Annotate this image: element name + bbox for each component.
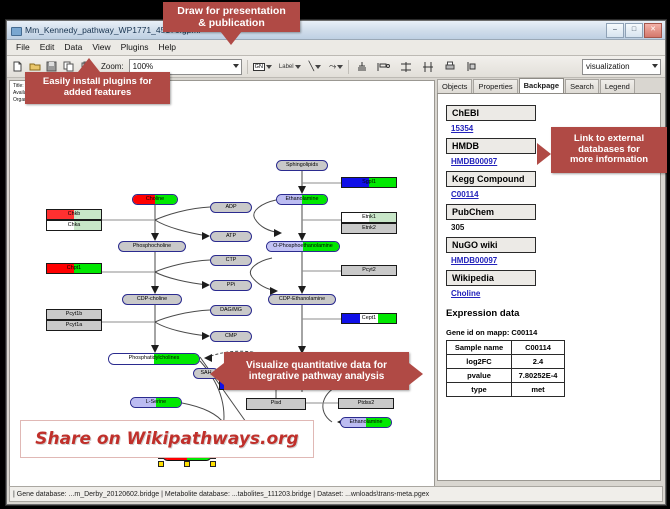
- expression-data-title: Expression data: [446, 308, 654, 319]
- callout-share: Share on Wikipathways.org: [20, 420, 314, 458]
- backpage-header-kegg: Kegg Compound: [446, 171, 536, 187]
- node-dag-mg[interactable]: DAG/MG: [210, 305, 252, 316]
- tab-objects[interactable]: Objects: [437, 79, 472, 93]
- node-l-serine-left[interactable]: L-Serine: [130, 397, 182, 408]
- tab-properties[interactable]: Properties: [473, 79, 517, 93]
- node-label: CTP: [226, 258, 237, 263]
- selection-handle[interactable]: [158, 461, 164, 467]
- node-label: CDP-choline: [137, 297, 167, 302]
- node-label: Chkb: [68, 212, 81, 217]
- node-label: Cept1: [362, 316, 376, 321]
- panel-tabs: Objects Properties Backpage Search Legen…: [437, 80, 661, 94]
- chevron-down-icon[interactable]: [337, 65, 343, 69]
- tab-legend[interactable]: Legend: [600, 79, 635, 93]
- status-bar: | Gene database: ...m_Derby_20120602.bri…: [9, 486, 663, 502]
- menu-item-view[interactable]: View: [87, 40, 115, 55]
- menu-item-data[interactable]: Data: [59, 40, 87, 55]
- tab-backpage[interactable]: Backpage: [519, 78, 564, 93]
- callout-plugins-arrow: [78, 58, 100, 72]
- table-cell-value: C00114: [512, 341, 565, 355]
- selection-handle[interactable]: [184, 461, 190, 467]
- chevron-down-icon[interactable]: [295, 65, 301, 69]
- backpage-header-nugo: NuGO wiki: [446, 237, 536, 253]
- node-ethanolamine-bottom[interactable]: Ethanolamine: [340, 417, 392, 428]
- callout-visualize-arrow-left: [210, 363, 224, 385]
- datanode-icon: GN: [253, 63, 265, 71]
- node-label: CMP: [225, 334, 237, 339]
- visualization-value: visualization: [586, 62, 630, 71]
- gene-cept1[interactable]: Cept1: [341, 313, 397, 324]
- gene-ptdss2[interactable]: Ptdss2: [338, 398, 394, 409]
- node-label: DAG/MG: [220, 308, 242, 313]
- interaction-icon: ⤳: [329, 61, 336, 72]
- node-cdp-choline[interactable]: CDP-choline: [122, 294, 182, 305]
- node-label: Ethanolamine: [350, 420, 383, 425]
- gene-pcyt1b[interactable]: Pcyt1b: [46, 309, 102, 320]
- callout-draw: Draw for presentation & publication: [163, 2, 300, 32]
- node-label: Choline: [146, 197, 164, 202]
- backpage-link-wikipedia[interactable]: Choline: [451, 289, 654, 298]
- node-label: Sgpl1: [362, 180, 376, 185]
- window-titlebar: Mm_Kennedy_pathway_WP1771_45176.gpml – □…: [7, 21, 665, 40]
- node-label: Pcyt1b: [66, 312, 82, 317]
- callout-link: Link to external databases for more info…: [551, 127, 667, 173]
- close-button[interactable]: ✕: [644, 23, 662, 38]
- print-icon[interactable]: [442, 59, 457, 74]
- menu-item-help[interactable]: Help: [154, 40, 181, 55]
- node-ppi[interactable]: PPi: [210, 280, 252, 291]
- zoom-label: Zoom:: [101, 62, 124, 71]
- selection-handle[interactable]: [210, 461, 216, 467]
- backpage-header-hmdb: HMDB: [446, 138, 536, 154]
- node-ctp[interactable]: CTP: [210, 255, 252, 266]
- new-file-icon[interactable]: [10, 59, 25, 74]
- node-label: Sphingolipids: [286, 163, 318, 168]
- node-phosphatidylcholines[interactable]: Phosphatidylcholines: [108, 353, 200, 365]
- node-label: Pisd: [271, 401, 282, 406]
- line-icon: ╲: [309, 61, 314, 72]
- maximize-button[interactable]: □: [625, 23, 643, 38]
- backpage-header-pubchem: PubChem: [446, 204, 536, 220]
- expression-table: Sample name C00114 log2FC 2.4 pvalue 7.8…: [446, 340, 565, 397]
- gene-etnk2[interactable]: Etnk2: [341, 223, 397, 234]
- table-cell-key: pvalue: [447, 369, 512, 383]
- line-tool[interactable]: ╲: [309, 61, 321, 72]
- status-text: | Gene database: ...m_Derby_20120602.bri…: [10, 491, 429, 498]
- table-row: type met: [447, 383, 565, 397]
- node-label: Phosphatidylcholines: [129, 356, 180, 361]
- node-sphingolipids[interactable]: Sphingolipids: [276, 160, 328, 171]
- callout-visualize-arrow-right: [409, 363, 423, 385]
- gene-etnk1[interactable]: Etnk1: [341, 212, 397, 223]
- node-ethanolamine-top[interactable]: Ethanolamine: [276, 194, 328, 205]
- distribute-horizontal-icon[interactable]: [420, 59, 435, 74]
- node-label: Ptdss2: [358, 401, 374, 406]
- gene-chka[interactable]: Chka: [46, 220, 102, 231]
- zoom-value: 100%: [133, 62, 153, 71]
- toolbar-separator: [247, 60, 248, 74]
- distribute-vertical-icon[interactable]: [398, 59, 413, 74]
- window-controls: – □ ✕: [606, 23, 662, 38]
- share-text: Share on Wikipathways.org: [35, 429, 298, 449]
- node-label: Chpt1: [67, 266, 81, 271]
- backpage-link-kegg[interactable]: C00114: [451, 190, 654, 199]
- chevron-down-icon: [652, 64, 658, 68]
- node-label: Phosphocholine: [133, 244, 171, 249]
- gene-chkb[interactable]: Chkb: [46, 209, 102, 220]
- minimize-button[interactable]: –: [606, 23, 624, 38]
- backpage-header-chebi: ChEBI: [446, 105, 536, 121]
- align-left-icon[interactable]: [376, 59, 391, 74]
- gene-pcyt1a[interactable]: Pcyt1a: [46, 320, 102, 331]
- node-label: Chka: [68, 223, 81, 228]
- gene-chpt1[interactable]: Chpt1: [46, 263, 102, 274]
- backpage-link-nugo[interactable]: HMDB00097: [451, 256, 654, 265]
- table-row: Sample name C00114: [447, 341, 565, 355]
- table-cell-value: met: [512, 383, 565, 397]
- node-phosphocholine[interactable]: Phosphocholine: [118, 241, 186, 252]
- label-tool-text: Label: [279, 64, 294, 70]
- table-row: log2FC 2.4: [447, 355, 565, 369]
- callout-plugins: Easily install plugins for added feature…: [25, 72, 170, 104]
- gene-pisd[interactable]: Pisd: [246, 398, 306, 410]
- menu-bar: File Edit Data View Plugins Help: [7, 40, 665, 56]
- screenshot-root: Mm_Kennedy_pathway_WP1771_45176.gpml – □…: [0, 0, 670, 509]
- node-label: Etnk2: [362, 226, 376, 231]
- gene-sgpl1[interactable]: Sgpl1: [341, 177, 397, 188]
- node-label: O-Phosphoethanolamine: [273, 244, 333, 249]
- backpage-header-wikipedia: Wikipedia: [446, 270, 536, 286]
- gene-id-on-mapp: Gene id on mapp: C00114: [446, 328, 654, 337]
- datanode-tool[interactable]: GN: [253, 63, 272, 71]
- node-label: Pcyt1a: [66, 323, 82, 328]
- third-left: [342, 314, 360, 323]
- node-label: Etnk1: [362, 215, 376, 220]
- node-o-phosphoethanolamine[interactable]: O-Phosphoethanolamine: [266, 241, 340, 252]
- table-cell-key: log2FC: [447, 355, 512, 369]
- app-icon: [10, 25, 21, 36]
- callout-link-arrow: [537, 143, 551, 165]
- interaction-tool[interactable]: ⤳: [329, 61, 343, 72]
- label-tool[interactable]: Label: [279, 64, 301, 70]
- node-cmp[interactable]: CMP: [210, 331, 252, 342]
- node-adp[interactable]: ADP: [210, 202, 252, 213]
- menu-item-edit[interactable]: Edit: [35, 40, 60, 55]
- gene-pcyt2[interactable]: Pcyt2: [341, 265, 397, 276]
- table-row: pvalue 7.80252E-4: [447, 369, 565, 383]
- chevron-down-icon[interactable]: [315, 65, 321, 69]
- order-icon[interactable]: [464, 59, 479, 74]
- node-label: ATP: [226, 234, 236, 239]
- node-label: Ethanolamine: [286, 197, 319, 202]
- chevron-down-icon: [233, 64, 239, 68]
- toolbar-separator: [348, 60, 349, 74]
- node-label: CDP-Ethanolamine: [279, 297, 325, 302]
- node-atp[interactable]: ATP: [210, 231, 252, 242]
- tab-search[interactable]: Search: [565, 79, 599, 93]
- callout-draw-arrow: [220, 31, 242, 45]
- menu-item-plugins[interactable]: Plugins: [116, 40, 154, 55]
- table-cell-key: type: [447, 383, 512, 397]
- node-label: Pcyt2: [362, 268, 375, 273]
- align-center-icon[interactable]: [354, 59, 369, 74]
- node-label: L-Serine: [146, 400, 166, 405]
- menu-item-file[interactable]: File: [11, 40, 35, 55]
- backpage-value-pubchem: 305: [451, 223, 654, 232]
- third-right: [378, 314, 396, 323]
- visualization-combo[interactable]: visualization: [582, 59, 661, 75]
- table-cell-key: Sample name: [447, 341, 512, 355]
- callout-visualize: Visualize quantitative data for integrat…: [224, 352, 409, 390]
- table-cell-value: 7.80252E-4: [512, 369, 565, 383]
- chevron-down-icon[interactable]: [266, 65, 272, 69]
- node-cdp-ethanolamine[interactable]: CDP-Ethanolamine: [268, 294, 336, 305]
- node-label: PPi: [227, 283, 235, 288]
- node-label: ADP: [225, 205, 236, 210]
- node-choline-top[interactable]: Choline: [132, 194, 178, 205]
- table-cell-value: 2.4: [512, 355, 565, 369]
